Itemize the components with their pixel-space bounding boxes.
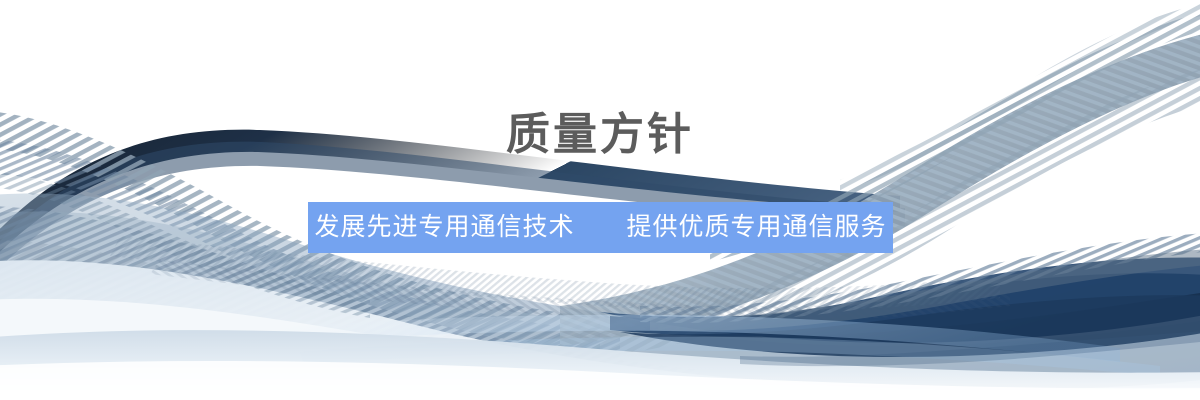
page-title: 质量方针 (506, 112, 694, 158)
quality-policy-banner: 质量方针 发展先进专用通信技术 提供优质专用通信服务 (0, 0, 1200, 400)
subtitle-text: 发展先进专用通信技术 提供优质专用通信服务 (314, 215, 886, 240)
abstract-wave-background (0, 0, 1200, 400)
page-title-container: 质量方针 (0, 112, 1200, 158)
subtitle-banner-bar: 发展先进专用通信技术 提供优质专用通信服务 (308, 202, 893, 253)
